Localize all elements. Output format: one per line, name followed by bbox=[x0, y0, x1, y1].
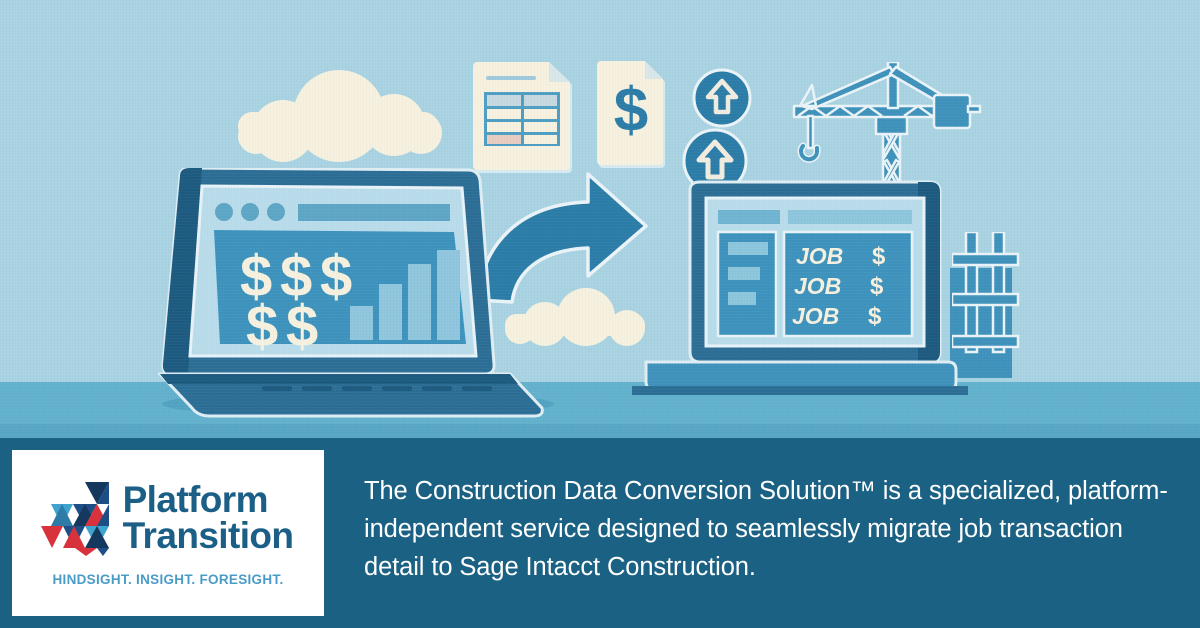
money-document: $ bbox=[597, 55, 665, 165]
cloud-base bbox=[238, 112, 438, 140]
laptop-right-graphic: JOB $ JOB $ JOB $ bbox=[618, 180, 1008, 406]
svg-text:$: $ bbox=[286, 294, 318, 359]
target-system-laptop: JOB $ JOB $ JOB $ bbox=[618, 180, 1006, 404]
promo-banner: $ bbox=[0, 0, 1200, 628]
headline-text: The Construction Data Conversion Solutio… bbox=[364, 472, 1174, 586]
svg-text:JOB: JOB bbox=[796, 243, 843, 269]
logo-tagline: HINDSIGHT. INSIGHT. FORESIGHT. bbox=[52, 572, 283, 587]
ground-strip bbox=[0, 424, 1200, 438]
spreadsheet-document bbox=[472, 58, 574, 168]
cloud-upper-left bbox=[238, 70, 438, 140]
svg-text:$: $ bbox=[870, 273, 884, 300]
spreadsheet-doc-icon bbox=[472, 58, 574, 170]
svg-text:$: $ bbox=[868, 303, 882, 330]
svg-text:$: $ bbox=[614, 76, 648, 145]
upload-arrow-icon bbox=[692, 68, 752, 128]
svg-text:JOB: JOB bbox=[794, 273, 841, 299]
dollar-doc-icon: $ bbox=[597, 55, 667, 167]
svg-text:JOB: JOB bbox=[792, 303, 839, 329]
platform-transition-logo: Platform Transition HINDSIGHT. INSIGHT. … bbox=[12, 450, 324, 616]
logo-word-platform: Platform bbox=[123, 482, 294, 517]
source-system-laptop: $ $ $ $ $ bbox=[158, 168, 578, 420]
svg-text:$: $ bbox=[320, 244, 352, 309]
logo-word-transition: Transition bbox=[123, 518, 294, 553]
svg-text:$: $ bbox=[246, 294, 278, 359]
laptop-left-graphic: $ $ $ $ $ bbox=[158, 168, 578, 420]
triangle-mark-icon bbox=[41, 480, 113, 556]
svg-text:$: $ bbox=[872, 243, 886, 270]
upload-arrow-badge-top bbox=[692, 68, 752, 133]
logo-wordmark: Platform Transition bbox=[123, 482, 294, 552]
logo-row: Platform Transition bbox=[41, 480, 294, 556]
